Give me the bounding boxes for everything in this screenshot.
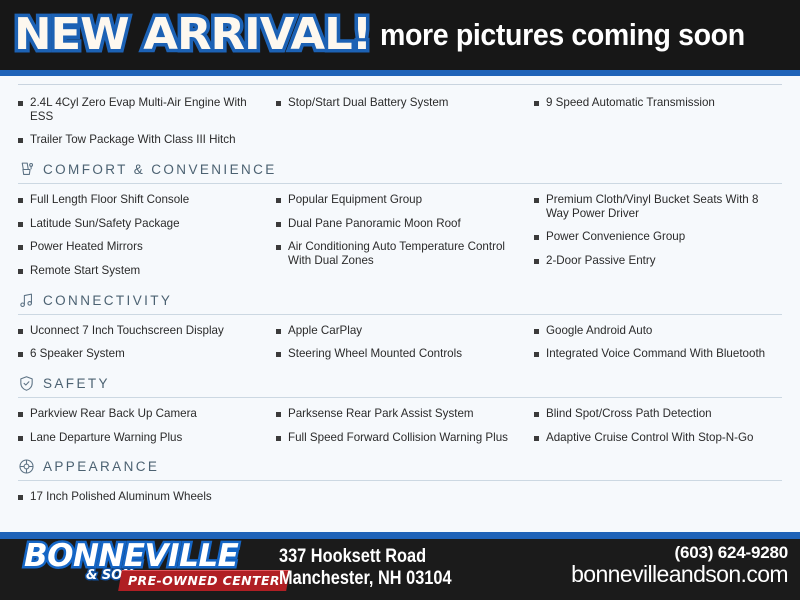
feature-item: Steering Wheel Mounted Controls (276, 347, 534, 361)
bullet-icon (18, 222, 23, 227)
feature-label: Premium Cloth/Vinyl Bucket Seats With 8 … (546, 193, 768, 220)
bullet-icon (276, 352, 281, 357)
dealer-logo[interactable]: BONNEVILLE & SON PRE-OWNED CENTER (8, 532, 270, 600)
feature-column: 2.4L 4Cyl Zero Evap Multi-Air Engine Wit… (18, 96, 276, 157)
section-title-connectivity: CONNECTIVITY (43, 293, 172, 308)
feature-item: Google Android Auto (534, 324, 782, 338)
feature-item: Blind Spot/Cross Path Detection (534, 407, 782, 421)
section-title-safety: SAFETY (43, 376, 110, 391)
feature-column (534, 490, 782, 514)
feature-label: 9 Speed Automatic Transmission (546, 96, 715, 110)
car-seat-icon (18, 161, 35, 178)
feature-item: Trailer Tow Package With Class III Hitch (18, 133, 276, 147)
logo-preowned-banner: PRE-OWNED CENTER (118, 570, 290, 591)
feature-section-comfort: COMFORT & CONVENIENCEFull Length Floor S… (18, 157, 782, 288)
feature-column: Parksense Rear Park Assist SystemFull Sp… (276, 407, 534, 454)
bullet-icon (276, 436, 281, 441)
feature-column (276, 490, 534, 514)
feature-column: Blind Spot/Cross Path DetectionAdaptive … (534, 407, 782, 454)
feature-label: Stop/Start Dual Battery System (288, 96, 448, 110)
features-content: 2.4L 4Cyl Zero Evap Multi-Air Engine Wit… (0, 76, 800, 532)
section-title-comfort: COMFORT & CONVENIENCE (43, 162, 277, 177)
feature-grid-appearance: 17 Inch Polished Aluminum Wheels (18, 485, 782, 514)
feature-column: Full Length Floor Shift ConsoleLatitude … (18, 193, 276, 288)
feature-label: Full Speed Forward Collision Warning Plu… (288, 431, 508, 445)
feature-section-connectivity: CONNECTIVITYUconnect 7 Inch Touchscreen … (18, 288, 782, 371)
feature-label: Full Length Floor Shift Console (30, 193, 189, 207)
feature-item: Power Heated Mirrors (18, 240, 276, 254)
bullet-icon (18, 329, 23, 334)
feature-label: Adaptive Cruise Control With Stop-N-Go (546, 431, 753, 445)
feature-item: Dual Pane Panoramic Moon Roof (276, 217, 534, 231)
feature-label: Power Heated Mirrors (30, 240, 143, 254)
section-header-comfort: COMFORT & CONVENIENCE (18, 157, 782, 184)
feature-item: Premium Cloth/Vinyl Bucket Seats With 8 … (534, 193, 782, 220)
bullet-icon (18, 138, 23, 143)
feature-column: Apple CarPlaySteering Wheel Mounted Cont… (276, 324, 534, 371)
feature-label: Apple CarPlay (288, 324, 362, 338)
dealer-phone[interactable]: (603) 624-9280 (571, 543, 788, 563)
feature-section-powertrain: 2.4L 4Cyl Zero Evap Multi-Air Engine Wit… (18, 91, 782, 157)
feature-section-safety: SAFETYParkview Rear Back Up CameraLane D… (18, 371, 782, 454)
feature-label: Lane Departure Warning Plus (30, 431, 182, 445)
feature-column: Uconnect 7 Inch Touchscreen Display6 Spe… (18, 324, 276, 371)
bullet-icon (534, 329, 539, 334)
feature-grid-safety: Parkview Rear Back Up CameraLane Departu… (18, 402, 782, 454)
dealer-website[interactable]: bonnevilleandson.com (571, 562, 788, 588)
feature-item: Integrated Voice Command With Bluetooth (534, 347, 782, 361)
bullet-icon (276, 245, 281, 250)
bullet-icon (276, 222, 281, 227)
section-header-safety: SAFETY (18, 371, 782, 398)
feature-column: Premium Cloth/Vinyl Bucket Seats With 8 … (534, 193, 782, 288)
content-top-divider (18, 84, 782, 85)
feature-label: Remote Start System (30, 264, 140, 278)
feature-item: Full Length Floor Shift Console (18, 193, 276, 207)
feature-item: Parkview Rear Back Up Camera (18, 407, 276, 421)
bullet-icon (534, 101, 539, 106)
bullet-icon (276, 412, 281, 417)
bullet-icon (276, 198, 281, 203)
bullet-icon (534, 436, 539, 441)
feature-grid-comfort: Full Length Floor Shift ConsoleLatitude … (18, 188, 782, 288)
dealer-footer: BONNEVILLE & SON PRE-OWNED CENTER 337 Ho… (0, 532, 800, 600)
promo-banner: NEW ARRIVAL! more pictures coming soon (0, 0, 800, 70)
feature-label: 2.4L 4Cyl Zero Evap Multi-Air Engine Wit… (30, 96, 262, 123)
feature-item: Popular Equipment Group (276, 193, 534, 207)
feature-column: 9 Speed Automatic Transmission (534, 96, 782, 157)
feature-item: 2.4L 4Cyl Zero Evap Multi-Air Engine Wit… (18, 96, 276, 123)
bullet-icon (534, 235, 539, 240)
feature-label: Dual Pane Panoramic Moon Roof (288, 217, 461, 231)
feature-label: Blind Spot/Cross Path Detection (546, 407, 712, 421)
bullet-icon (18, 245, 23, 250)
dealer-contact: (603) 624-9280 bonnevilleandson.com (571, 543, 788, 587)
feature-label: Popular Equipment Group (288, 193, 422, 207)
bullet-icon (18, 269, 23, 274)
address-line-1: 337 Hooksett Road (279, 546, 452, 568)
feature-column: Stop/Start Dual Battery System (276, 96, 534, 157)
logo-preowned-text: PRE-OWNED CENTER (128, 573, 280, 588)
feature-label: Parkview Rear Back Up Camera (30, 407, 197, 421)
feature-grid-powertrain: 2.4L 4Cyl Zero Evap Multi-Air Engine Wit… (18, 91, 782, 157)
bullet-icon (534, 259, 539, 264)
feature-item: Apple CarPlay (276, 324, 534, 338)
bullet-icon (18, 101, 23, 106)
feature-item: Air Conditioning Auto Temperature Contro… (276, 240, 534, 267)
bullet-icon (18, 436, 23, 441)
feature-column: Popular Equipment GroupDual Pane Panoram… (276, 193, 534, 288)
feature-label: Integrated Voice Command With Bluetooth (546, 347, 765, 361)
feature-label: Steering Wheel Mounted Controls (288, 347, 462, 361)
section-header-connectivity: CONNECTIVITY (18, 288, 782, 315)
section-title-appearance: APPEARANCE (43, 459, 159, 474)
feature-label: Trailer Tow Package With Class III Hitch (30, 133, 236, 147)
feature-column: Parkview Rear Back Up CameraLane Departu… (18, 407, 276, 454)
feature-section-appearance: APPEARANCE17 Inch Polished Aluminum Whee… (18, 454, 782, 514)
feature-item: Power Convenience Group (534, 230, 782, 244)
bullet-icon (534, 412, 539, 417)
feature-item: Stop/Start Dual Battery System (276, 96, 534, 110)
feature-item: Lane Departure Warning Plus (18, 431, 276, 445)
feature-sections: 2.4L 4Cyl Zero Evap Multi-Air Engine Wit… (18, 91, 782, 514)
bullet-icon (18, 495, 23, 500)
feature-item: Remote Start System (18, 264, 276, 278)
feature-item: Parksense Rear Park Assist System (276, 407, 534, 421)
bullet-icon (276, 329, 281, 334)
feature-grid-connectivity: Uconnect 7 Inch Touchscreen Display6 Spe… (18, 319, 782, 371)
feature-item: 9 Speed Automatic Transmission (534, 96, 782, 110)
bullet-icon (18, 198, 23, 203)
shield-check-icon (18, 375, 35, 392)
feature-label: Uconnect 7 Inch Touchscreen Display (30, 324, 224, 338)
feature-column: Google Android AutoIntegrated Voice Comm… (534, 324, 782, 371)
feature-item: Full Speed Forward Collision Warning Plu… (276, 431, 534, 445)
feature-item: Uconnect 7 Inch Touchscreen Display (18, 324, 276, 338)
feature-label: Google Android Auto (546, 324, 652, 338)
dealer-address: 337 Hooksett Road Manchester, NH 03104 (279, 546, 452, 591)
feature-item: 17 Inch Polished Aluminum Wheels (18, 490, 276, 504)
banner-headline: NEW ARRIVAL! (14, 13, 371, 57)
feature-label: 6 Speaker System (30, 347, 125, 361)
bullet-icon (534, 352, 539, 357)
feature-label: 17 Inch Polished Aluminum Wheels (30, 490, 212, 504)
address-line-2: Manchester, NH 03104 (279, 568, 452, 590)
section-header-appearance: APPEARANCE (18, 454, 782, 481)
feature-column: 17 Inch Polished Aluminum Wheels (18, 490, 276, 514)
feature-label: Power Convenience Group (546, 230, 685, 244)
bullet-icon (276, 101, 281, 106)
feature-item: Adaptive Cruise Control With Stop-N-Go (534, 431, 782, 445)
bullet-icon (534, 198, 539, 203)
feature-label: 2-Door Passive Entry (546, 254, 656, 268)
wheel-icon (18, 458, 35, 475)
feature-item: Latitude Sun/Safety Package (18, 217, 276, 231)
feature-label: Parksense Rear Park Assist System (288, 407, 474, 421)
music-note-icon (18, 292, 35, 309)
bullet-icon (18, 412, 23, 417)
feature-label: Latitude Sun/Safety Package (30, 217, 180, 231)
feature-item: 2-Door Passive Entry (534, 254, 782, 268)
banner-subtext: more pictures coming soon (380, 17, 745, 53)
feature-label: Air Conditioning Auto Temperature Contro… (288, 240, 520, 267)
bullet-icon (18, 352, 23, 357)
feature-item: 6 Speaker System (18, 347, 276, 361)
